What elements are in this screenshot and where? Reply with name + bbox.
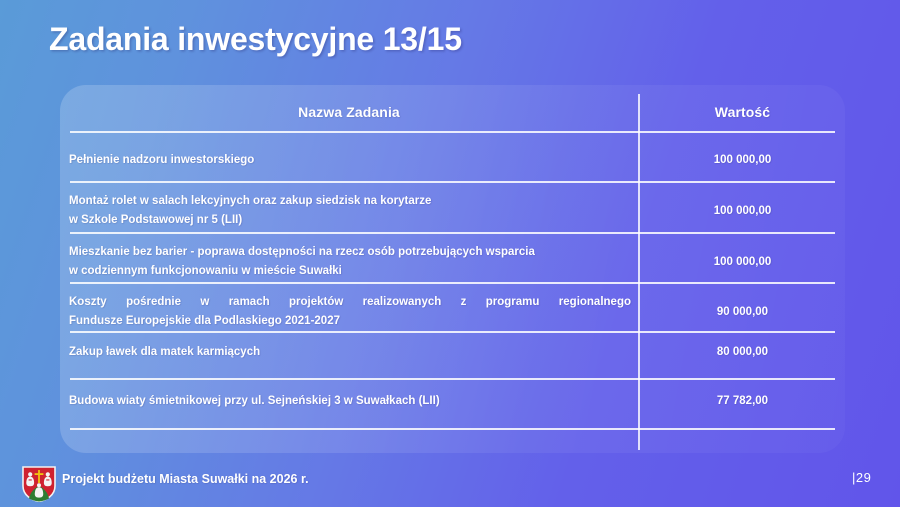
- task-name: Budowa wiaty śmietnikowej przy ul. Sejne…: [69, 392, 629, 411]
- header-divider: [70, 131, 835, 133]
- row-divider: [70, 181, 835, 183]
- investment-tasks-table: Nazwa Zadania Wartość Pełnienie nadzoru …: [60, 85, 845, 453]
- footer-text: Projekt budżetu Miasta Suwałki na 2026 r…: [62, 472, 309, 486]
- column-header-name: Nazwa Zadania: [60, 103, 638, 122]
- row-divider: [70, 331, 835, 333]
- task-name-line-2: w codziennym funkcjonowaniu w mieście Su…: [69, 262, 629, 281]
- presentation-slide: Zadania inwestycyjne 13/15 Nazwa Zadania…: [0, 0, 900, 507]
- row-divider: [70, 282, 835, 284]
- task-value: 100 000,00: [640, 253, 845, 272]
- task-value: 90 000,00: [640, 303, 845, 322]
- row-divider: [70, 232, 835, 234]
- task-name-line-1: Koszty pośrednie w ramach projektów real…: [69, 293, 631, 312]
- task-name: Zakup ławek dla matek karmiących: [69, 343, 629, 362]
- row-divider: [70, 428, 835, 430]
- task-value: 77 782,00: [640, 392, 845, 411]
- row-divider: [70, 378, 835, 380]
- task-name-line-1: Mieszkanie bez barier - poprawa dostępno…: [69, 243, 629, 262]
- page-number: |29: [852, 470, 871, 485]
- task-value: 100 000,00: [640, 202, 845, 221]
- task-name-line-1: Montaż rolet w salach lekcyjnych oraz za…: [69, 192, 629, 211]
- task-name-line-2: Fundusze Europejskie dla Podlaskiego 202…: [69, 312, 629, 331]
- suwalki-coat-of-arms-icon: [22, 466, 56, 502]
- task-value: 80 000,00: [640, 343, 845, 362]
- page-title: Zadania inwestycyjne 13/15: [49, 21, 462, 58]
- column-header-value: Wartość: [640, 103, 845, 122]
- task-name-line-2: w Szkole Podstawowej nr 5 (LII): [69, 211, 629, 230]
- task-value: 100 000,00: [640, 151, 845, 170]
- task-name: Pełnienie nadzoru inwestorskiego: [69, 151, 629, 170]
